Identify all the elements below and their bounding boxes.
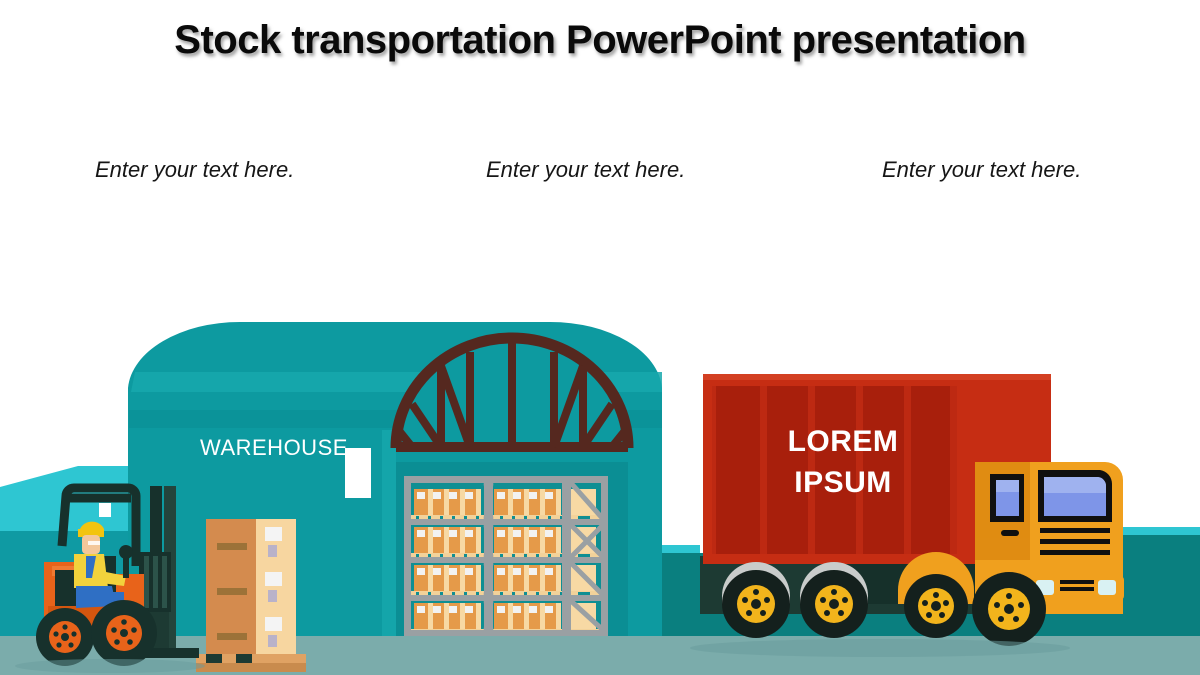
warehouse-storage-racks	[404, 476, 608, 636]
slide-canvas: LOREM IPSUM	[0, 0, 1200, 675]
text-placeholder-2[interactable]: Enter your text here.	[486, 157, 685, 183]
warehouse-logistics-illustration: LOREM IPSUM	[0, 0, 1200, 675]
cab-grille-slats	[1040, 528, 1110, 555]
warehouse-label: WAREHOUSE	[200, 435, 348, 460]
text-placeholder-3[interactable]: Enter your text here.	[882, 157, 1081, 183]
container-label-line-1: LOREM	[788, 425, 899, 458]
page-title: Stock transportation PowerPoint presenta…	[0, 18, 1200, 63]
forklift-shadow	[15, 659, 205, 673]
wooden-pallet	[196, 654, 306, 672]
warehouse-door	[345, 448, 371, 498]
pallet-with-boxes	[196, 519, 306, 672]
text-placeholder-1[interactable]: Enter your text here.	[95, 157, 294, 183]
stacked-boxes	[206, 519, 296, 654]
truck-shadow	[690, 639, 1070, 657]
cab-door-handle	[1001, 530, 1019, 536]
container-label-line-2: IPSUM	[794, 466, 892, 499]
forklift-cage-light	[99, 503, 111, 517]
